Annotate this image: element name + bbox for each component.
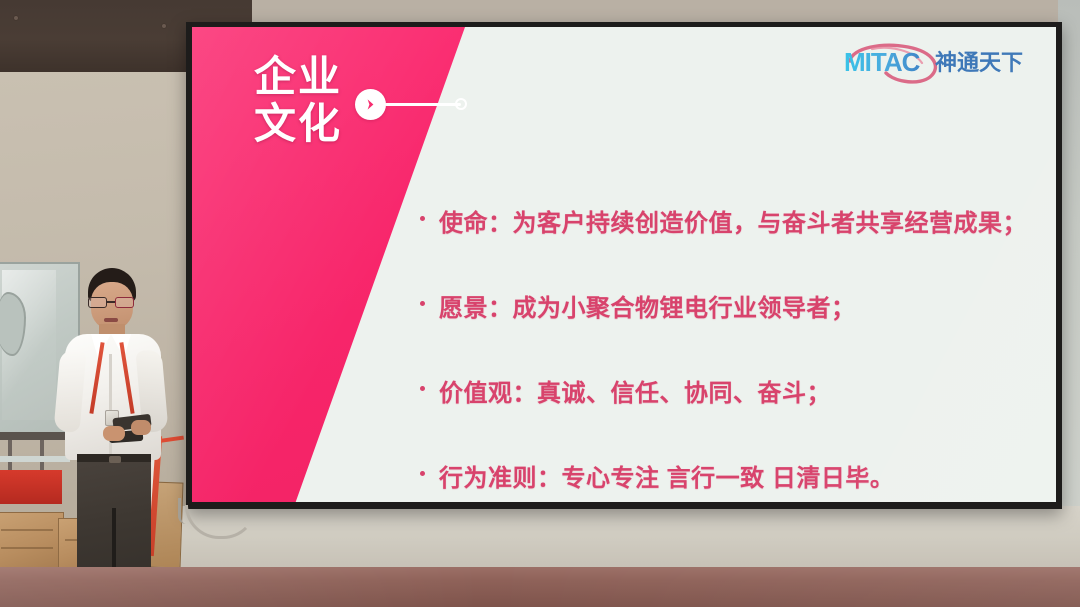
eyeglasses-icon xyxy=(88,297,136,308)
presenter-hand-right xyxy=(131,420,151,435)
slide-title-line-1: 企业 xyxy=(254,53,342,100)
bullet-dot-icon xyxy=(420,386,425,391)
slide-canvas: 企业 文化 使命：为客户持续创造价值，与奋斗者共享经营成果； xyxy=(192,27,1056,502)
bullet-text: 价值观：真诚、信任、协同、奋斗； xyxy=(439,373,831,408)
eyeglass-lens-right xyxy=(115,297,134,308)
company-logo: MITAC 神通天下 xyxy=(838,41,1034,85)
box-seam xyxy=(1,529,53,531)
presentation-display[interactable]: 企业 文化 使命：为客户持续创造价值，与奋斗者共享经营成果； xyxy=(186,22,1062,509)
bullet-text: 使命：为客户持续创造价值，与奋斗者共享经营成果； xyxy=(439,203,1027,238)
slide-title: 企业 文化 xyxy=(254,53,342,147)
list-item: 价值观：真诚、信任、协同、奋斗； xyxy=(420,373,1046,408)
connector-line xyxy=(385,103,461,106)
red-equipment-panel xyxy=(0,470,62,504)
chevron-right-icon[interactable] xyxy=(355,89,386,120)
eyeglass-lens-left xyxy=(88,297,107,308)
presenter-mouth xyxy=(104,318,118,322)
list-item: 使命：为客户持续创造价值，与奋斗者共享经营成果； xyxy=(420,203,1046,238)
bullet-dot-icon xyxy=(420,471,425,476)
floor-reflection xyxy=(0,567,1080,607)
box-seam xyxy=(1,547,53,549)
svg-text:MITAC: MITAC xyxy=(844,47,921,77)
bullet-list: 使命：为客户持续创造价值，与奋斗者共享经营成果； 愿景：成为小聚合物锂电行业领导… xyxy=(420,203,1046,493)
title-connector xyxy=(355,83,465,125)
presenter-hand-left xyxy=(103,426,125,441)
slide-title-line-2: 文化 xyxy=(254,100,342,147)
beam-screw xyxy=(14,16,18,20)
bullet-text: 行为准则：专心专注 言行一致 日清日毕。 xyxy=(439,458,894,493)
svg-text:神通天下: 神通天下 xyxy=(935,50,1023,75)
bullet-dot-icon xyxy=(420,216,425,221)
room-scene: 企业 文化 使命：为客户持续创造价值，与奋斗者共享经营成果； xyxy=(0,0,1080,607)
eyeglass-bridge xyxy=(107,301,115,303)
display-cable-run xyxy=(178,498,194,524)
bullet-dot-icon xyxy=(420,301,425,306)
circle-outline-icon xyxy=(455,98,467,110)
list-item: 愿景：成为小聚合物锂电行业领导者； xyxy=(420,288,1046,323)
presenter xyxy=(55,268,165,607)
beam-screw xyxy=(162,24,166,28)
wall-below-display xyxy=(150,506,1080,574)
bullet-text: 愿景：成为小聚合物锂电行业领导者； xyxy=(439,288,856,323)
belt-buckle xyxy=(109,456,121,463)
list-item: 行为准则：专心专注 言行一致 日清日毕。 xyxy=(420,458,1046,493)
